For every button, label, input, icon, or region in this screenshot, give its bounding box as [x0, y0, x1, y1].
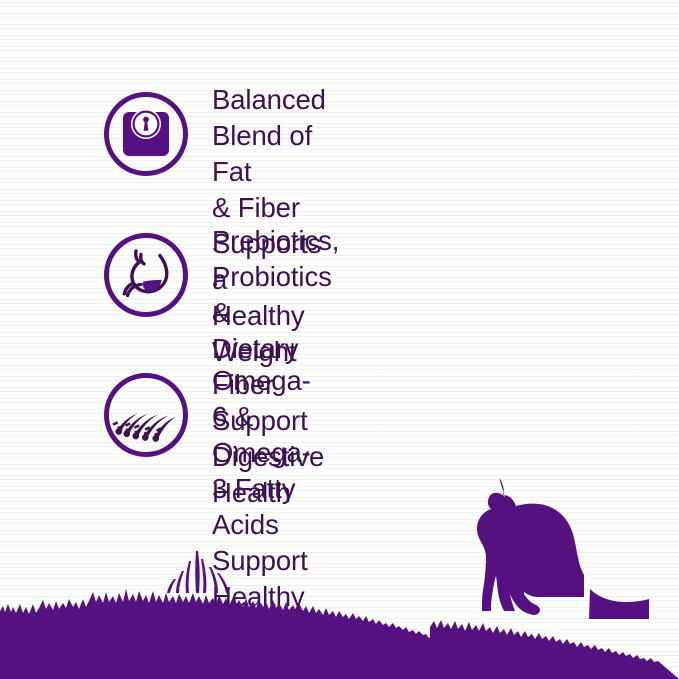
product-benefits-graphic: Balanced Blend of Fat & Fiber Supports a…	[0, 0, 679, 679]
stomach-digestion-icon	[103, 232, 189, 318]
tall-grass-tuft	[167, 551, 229, 593]
hair-follicle-coat-icon	[103, 372, 189, 458]
grassy-hill-scene	[0, 479, 679, 679]
sitting-dog-silhouette	[477, 479, 649, 619]
grassy-hill-right	[430, 620, 679, 679]
weight-scale-icon	[103, 91, 189, 177]
